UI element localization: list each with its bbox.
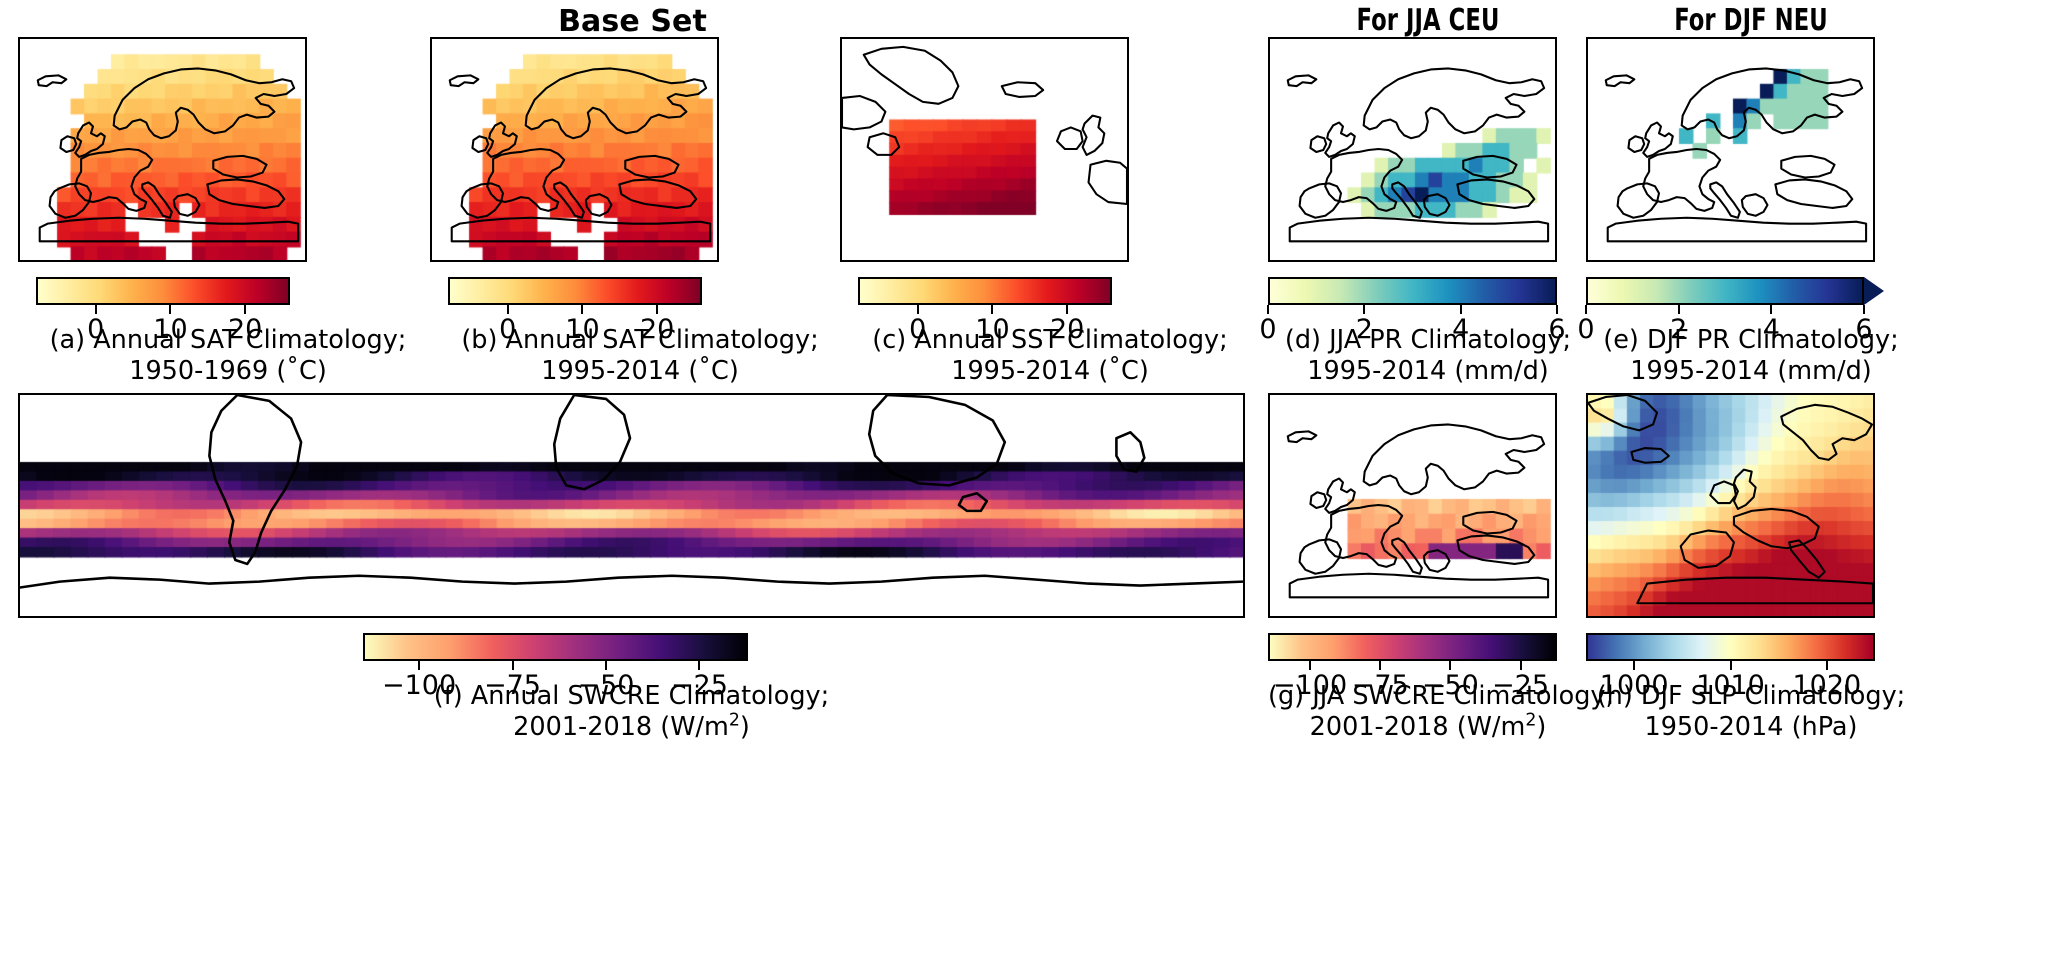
map-a[interactable]	[18, 37, 307, 262]
colorbar-g-tickmark	[1379, 661, 1381, 670]
caption-h: (h) DJF SLP Climatology; 1950-2014 (hPa)	[1586, 681, 1916, 742]
colorbar-f-tickmark	[605, 661, 607, 670]
colorbar-h-tickmark	[1730, 661, 1732, 670]
caption-g-line2: 2001-2018 (W/m2)	[1268, 712, 1588, 743]
colorbar-g-tickmark	[1449, 661, 1451, 670]
map-e[interactable]	[1586, 37, 1875, 262]
colorbar-e-tickmark	[1770, 305, 1772, 314]
caption-c: (c) Annual SST Climatology; 1995-2014 (˚…	[840, 325, 1260, 386]
colorbar-a-tickmark	[244, 305, 246, 314]
colorbar-e-tickmark	[1585, 305, 1587, 314]
colorbar-a-tickmark	[169, 305, 171, 314]
caption-g: (g) JJA SWCRE Climatology; 2001-2018 (W/…	[1268, 681, 1588, 742]
colorbar-g-tickmark	[1309, 661, 1311, 670]
group-title-for-jja-ceu: For JJA CEU	[1294, 3, 1563, 38]
colorbar-g-tickmark	[1520, 661, 1522, 670]
colorbar-d-tickmark	[1363, 305, 1365, 314]
coastlines-d	[1270, 39, 1555, 260]
map-d[interactable]	[1268, 37, 1557, 262]
group-title-base-set: Base Set	[20, 4, 1245, 39]
coastlines-b	[432, 39, 717, 260]
map-h[interactable]	[1586, 393, 1875, 618]
colorbar-d-tickmark	[1460, 305, 1462, 314]
colorbar-e-tickmark	[1678, 305, 1680, 314]
caption-e: (e) DJF PR Climatology; 1995-2014 (mm/d)	[1586, 325, 1916, 386]
colorbar-c-tickmark	[917, 305, 919, 314]
map-c[interactable]	[840, 37, 1129, 262]
coastlines-h	[1588, 395, 1873, 616]
map-g[interactable]	[1268, 393, 1557, 618]
colorbar-d-tickmark	[1556, 305, 1558, 314]
colorbar-h-tickmark	[1826, 661, 1828, 670]
caption-a: (a) Annual SAT Climatology; 1950-1969 (˚…	[18, 325, 438, 386]
colorbar-f-tickmark	[418, 661, 420, 670]
map-f[interactable]	[18, 393, 1245, 618]
colorbar-b-tickmark	[581, 305, 583, 314]
caption-b: (b) Annual SAT Climatology; 1995-2014 (˚…	[430, 325, 850, 386]
colorbar-c-tickmark	[991, 305, 993, 314]
colorbar-f-tickmark	[512, 661, 514, 670]
caption-f: (f) Annual SWCRE Climatology; 2001-2018 …	[18, 681, 1245, 742]
colorbar-b-tickmark	[507, 305, 509, 314]
map-b[interactable]	[430, 37, 719, 262]
coastlines-a	[20, 39, 305, 260]
coastlines-g	[1270, 395, 1555, 616]
caption-d: (d) JJA PR Climatology; 1995-2014 (mm/d)	[1268, 325, 1588, 386]
colorbar-a-tickmark	[95, 305, 97, 314]
coastlines-f	[20, 395, 1243, 616]
figure-root: Base Set For JJA CEU For DJF NEU 01020 (…	[0, 0, 2067, 965]
colorbar-e-extend-arrow	[1864, 277, 1884, 305]
colorbar-f-tickmark	[698, 661, 700, 670]
colorbar-c-tickmark	[1066, 305, 1068, 314]
caption-f-line2: 2001-2018 (W/m2)	[18, 712, 1245, 743]
coastlines-e	[1588, 39, 1873, 260]
colorbar-h-tickmark	[1633, 661, 1635, 670]
colorbar-e-tickmark	[1863, 305, 1865, 314]
group-title-for-djf-neu: For DJF NEU	[1612, 3, 1889, 38]
colorbar-b-tickmark	[656, 305, 658, 314]
coastlines-c	[842, 39, 1127, 260]
colorbar-d-tickmark	[1267, 305, 1269, 314]
